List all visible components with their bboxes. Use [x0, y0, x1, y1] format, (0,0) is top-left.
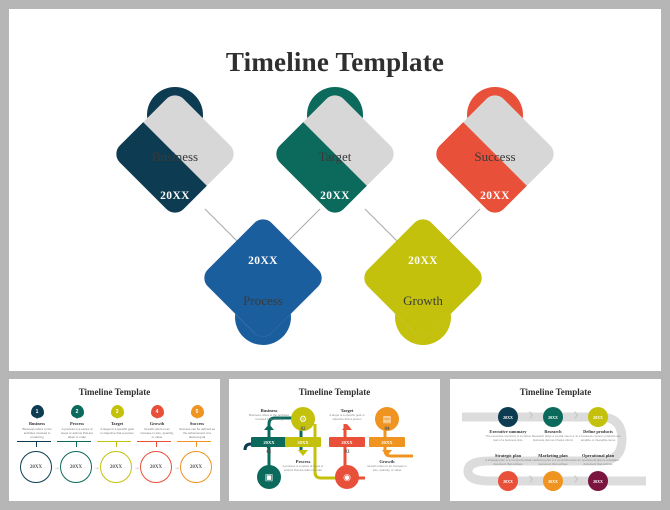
- triangle-up-icon: [264, 424, 274, 430]
- chevron-right-icon: ❯: [528, 411, 534, 419]
- thumb2-year-2: 20XX: [285, 437, 321, 447]
- idea-icon: ◉: [335, 465, 359, 489]
- thumb2-desc-2: A process is a series of steps or action…: [280, 465, 326, 473]
- thumb1-bar-2: [57, 441, 91, 442]
- thumb3-year-6: 20XX: [588, 471, 608, 491]
- chevron-right-icon: ❯: [528, 475, 534, 483]
- diamond-color-half-5: [431, 90, 558, 217]
- thumb1-tick-4: [156, 441, 157, 447]
- thumbnail-slide-2[interactable]: Timeline Template ▣ 20XX 01 Business Bus…: [229, 379, 440, 501]
- thumb1-desc-3: A target is a specific goal or objective…: [97, 428, 137, 436]
- thumb2-desc-4: Growth refers to an increase in size, qu…: [364, 465, 410, 473]
- thumbnail-slide-1[interactable]: Timeline Template 1 Business Business re…: [9, 379, 220, 501]
- thumb3-year-1: 20XX: [498, 407, 518, 427]
- thumb1-name-1: Business: [17, 421, 57, 426]
- chevron-right-icon: ❯: [573, 475, 579, 483]
- thumb1-tick-5: [196, 441, 197, 447]
- pin-icon: 4: [151, 405, 164, 418]
- thumb1-year-1: 20XX: [20, 451, 52, 483]
- thumb2-year-3: 20XX: [329, 437, 365, 447]
- thumb2-num-2: 02: [285, 427, 321, 432]
- triangle-down-icon: [298, 450, 308, 456]
- thumb3-desc-6: An operational plan is a detailed docume…: [573, 459, 623, 467]
- thumb3-desc-5: A marketing plan is a comprehensive docu…: [528, 459, 578, 467]
- thumb2-year-1: 20XX: [251, 437, 287, 447]
- thumb1-item-4[interactable]: 4 Growth Growth refers to an increase in…: [137, 405, 177, 439]
- thumb1-name-2: Process: [57, 421, 97, 426]
- thumb1-year-2: 20XX: [60, 451, 92, 483]
- triangle-up-icon: [342, 424, 352, 430]
- thumb1-year-5: 20XX: [180, 451, 212, 483]
- pin-icon: 2: [71, 405, 84, 418]
- pin-icon: 1: [31, 405, 44, 418]
- thumb2-num-1: 01: [251, 450, 287, 455]
- thumb1-name-3: Target: [97, 421, 137, 426]
- thumb1-year-4: 20XX: [140, 451, 172, 483]
- thumb1-item-3[interactable]: 3 Target A target is a specific goal or …: [97, 405, 137, 436]
- thumb3-year-5: 20XX: [543, 471, 563, 491]
- qr-icon: ▣: [257, 465, 281, 489]
- thumb1-item-1[interactable]: 1 Business Business refers to the activi…: [17, 405, 57, 439]
- thumbnail-1-title: Timeline Template: [9, 387, 220, 397]
- thumb3-desc-4: A strategic plan is a comprehensive docu…: [483, 459, 533, 467]
- thumb1-name-5: Success: [177, 421, 217, 426]
- thumb1-desc-2: A process is a series of steps or action…: [57, 428, 97, 439]
- thumb1-desc-5: Success can be defined as the achievemen…: [177, 428, 217, 439]
- thumb1-item-2[interactable]: 2 Process A process is a series of steps…: [57, 405, 97, 439]
- timeline-diagram: 1 Business 20XX 2: [9, 9, 661, 371]
- thumb1-bar-4: [137, 441, 171, 442]
- thumbnail-strip: Timeline Template 1 Business Business re…: [9, 379, 661, 501]
- pin-icon: 3: [111, 405, 124, 418]
- thumb2-num-3: 03: [329, 450, 365, 455]
- thumb3-year-3: 20XX: [588, 407, 608, 427]
- thumb2-num-4: 04: [369, 427, 405, 432]
- thumbnail-slide-3[interactable]: Timeline Template 20XX Executive summary…: [450, 379, 661, 501]
- main-slide[interactable]: Timeline Template 1 Business: [9, 9, 661, 371]
- thumb2-year-4: 20XX: [369, 437, 405, 447]
- diamond-shape-5: [431, 90, 558, 217]
- thumb3-year-4: 20XX: [498, 471, 518, 491]
- thumb1-item-5[interactable]: 5 Success Success can be defined as the …: [177, 405, 217, 439]
- thumb1-year-3: 20XX: [100, 451, 132, 483]
- chevron-right-icon: ❯: [573, 411, 579, 419]
- thumb1-name-4: Growth: [137, 421, 177, 426]
- thumb1-tick-1: [36, 441, 37, 447]
- thumb1-bar-3: [97, 441, 131, 442]
- thumb2-desc-1: Business refers to the activities involv…: [246, 414, 292, 422]
- pin-icon: 5: [191, 405, 204, 418]
- thumb3-desc-2: Research plays a crucial role in a busin…: [528, 435, 578, 443]
- thumb1-desc-1: Business refers to the activities involv…: [17, 428, 57, 439]
- thumb3-desc-1: The executive summary is a critical part…: [483, 435, 533, 443]
- thumb1-bar-5: [177, 441, 211, 442]
- thumb1-desc-4: Growth refers to an increase in size, qu…: [137, 428, 177, 439]
- triangle-down-icon: [382, 450, 392, 456]
- thumb1-tick-2: [76, 441, 77, 447]
- thumb3-desc-3: In a business context, products are tang…: [573, 435, 623, 443]
- timeline-node-5[interactable]: 5 Success 20XX: [425, 87, 565, 257]
- thumb1-tick-3: [116, 441, 117, 447]
- thumb1-bar-1: [17, 441, 51, 442]
- thumb2-desc-3: A target is a specific goal or objective…: [324, 414, 370, 422]
- thumb3-year-2: 20XX: [543, 407, 563, 427]
- slide-deck-window: Timeline Template 1 Business: [0, 0, 670, 510]
